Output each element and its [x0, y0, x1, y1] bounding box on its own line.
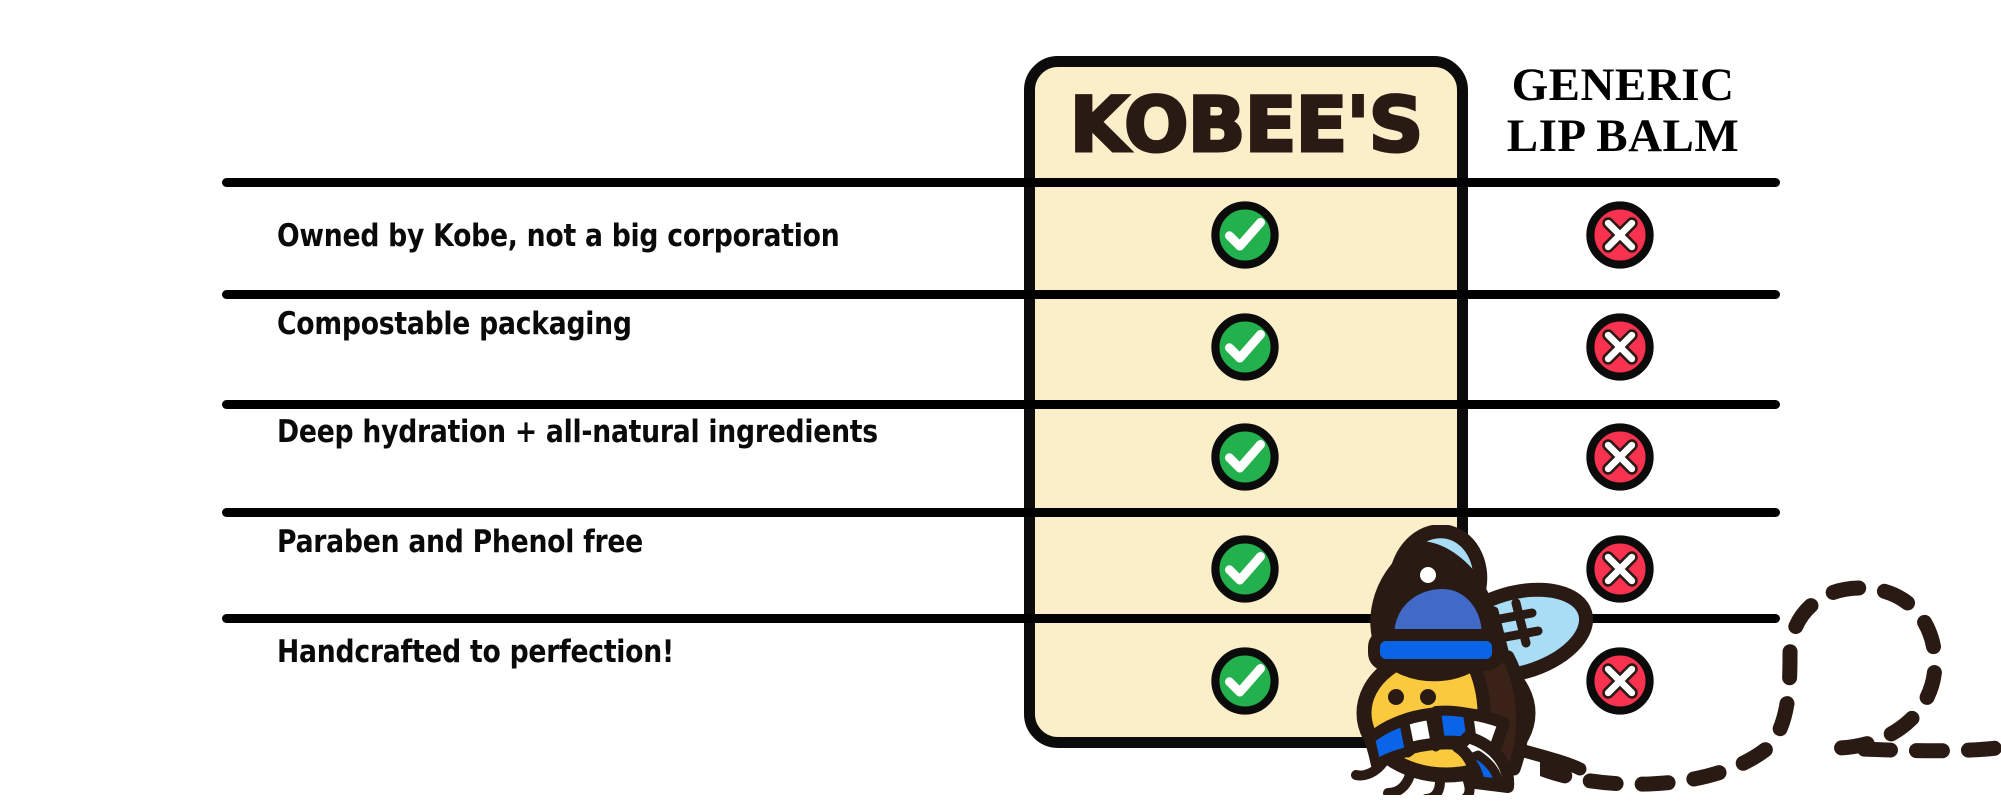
check-circle-icon: [1208, 310, 1282, 384]
cross-circle-icon: [1583, 310, 1657, 384]
bee-mascot-icon: [1318, 525, 1598, 795]
table-row-label: Compostable packaging: [277, 306, 879, 342]
table-row-label: Paraben and Phenol free: [277, 524, 879, 560]
dashed-flight-trail-icon: [1540, 560, 2001, 807]
check-circle-icon: [1208, 644, 1282, 718]
divider-rule-3: [222, 508, 1780, 517]
generic-column-title-line1: GENERIC: [1478, 60, 1768, 111]
divider-rule-top: [222, 178, 1780, 187]
generic-column-title: GENERIC LIP BALM: [1478, 60, 1768, 162]
check-circle-icon: [1208, 420, 1282, 494]
kobees-column-title: KOBEE'S: [1035, 81, 1457, 168]
table-row-label: Owned by Kobe, not a big corporation: [277, 218, 879, 254]
cross-circle-icon: [1583, 198, 1657, 272]
divider-rule-1: [222, 290, 1780, 299]
table-row-label: Handcrafted to perfection!: [277, 634, 879, 670]
check-circle-icon: [1208, 198, 1282, 272]
generic-column-title-line2: LIP BALM: [1478, 111, 1768, 162]
comparison-table-graphic: KOBEE'S GENERIC LIP BALM Owned by Kobe, …: [0, 0, 2001, 807]
divider-rule-2: [222, 400, 1780, 409]
table-row-label: Deep hydration + all-natural ingredients: [277, 414, 879, 450]
check-circle-icon: [1208, 532, 1282, 606]
cross-circle-icon: [1583, 420, 1657, 494]
